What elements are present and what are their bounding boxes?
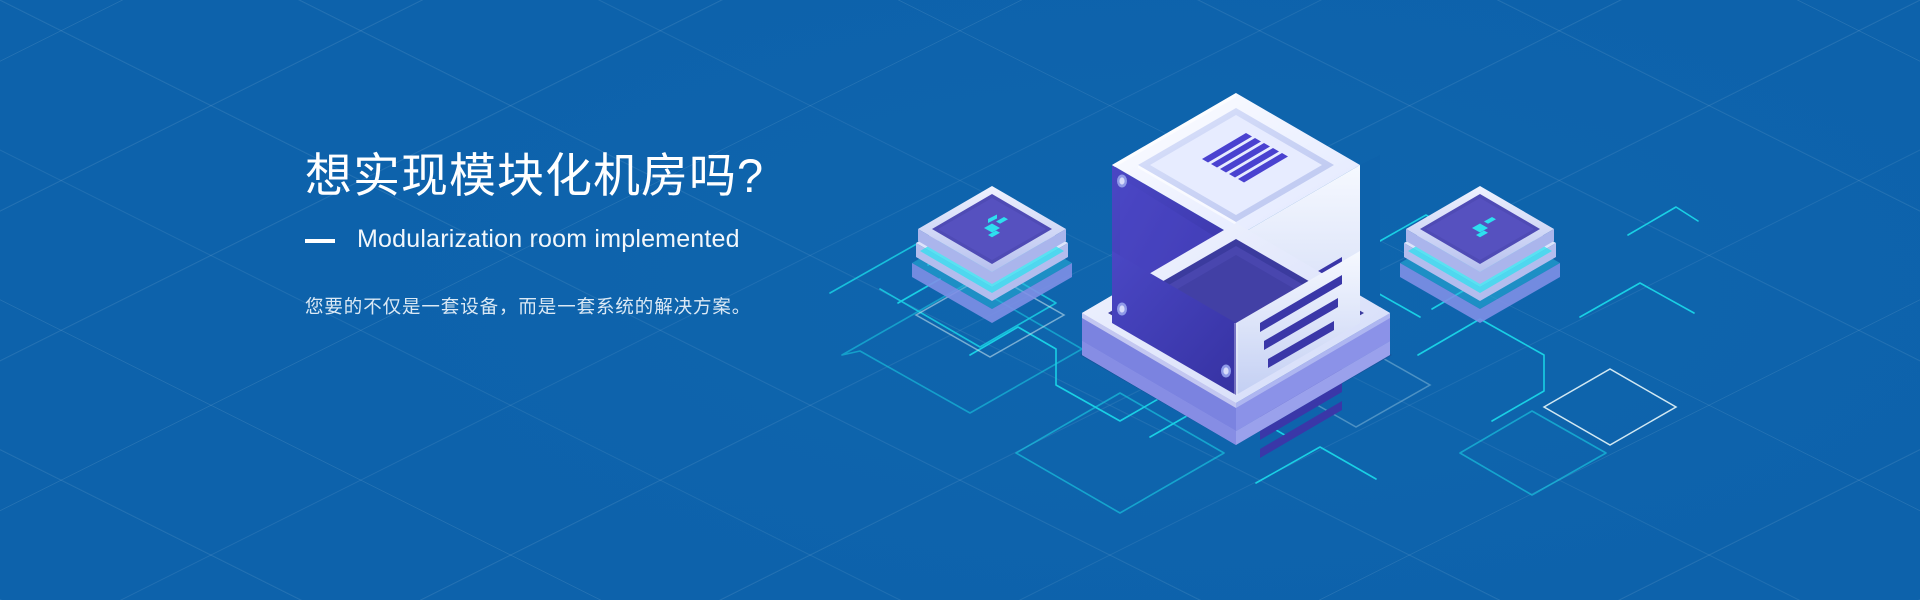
hero-banner: 想实现模块化机房吗? Modularization room implement…	[0, 0, 1920, 600]
banner-subtitle: Modularization room implemented	[357, 225, 740, 254]
right-chip-module	[1400, 186, 1560, 323]
left-chip-module	[912, 186, 1072, 323]
divider-dash-icon	[305, 239, 335, 243]
isometric-server-rack-illustration	[820, 55, 1700, 555]
